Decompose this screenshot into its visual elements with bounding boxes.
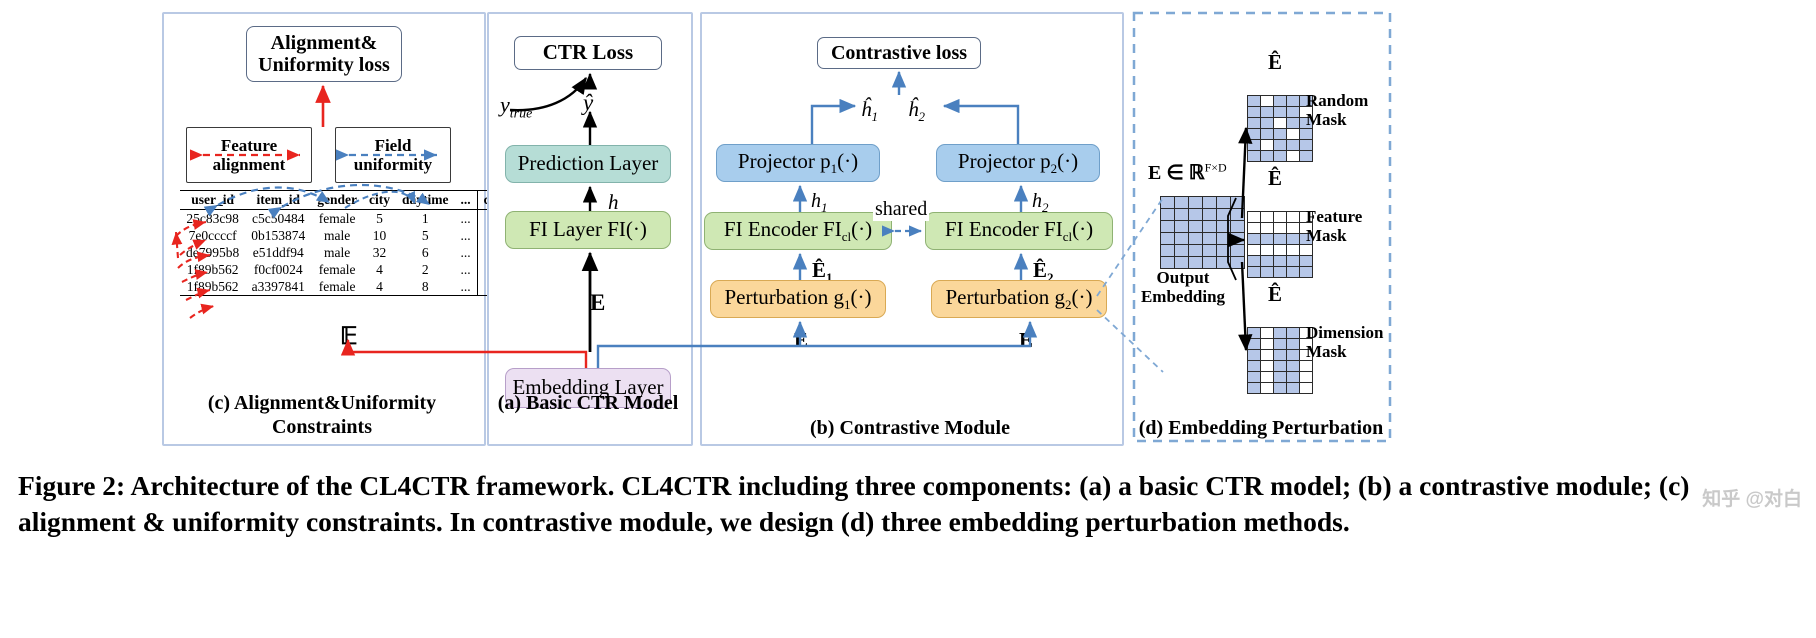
grid-cell xyxy=(1274,339,1286,349)
projector-p2-label: Projector p2(·) xyxy=(958,150,1078,177)
dimension-mask-line2: Mask xyxy=(1306,342,1416,361)
grid-cell xyxy=(1300,245,1312,255)
grid-cell xyxy=(1248,328,1260,338)
th-daytime: daytime xyxy=(396,191,455,210)
grid-cell xyxy=(1203,209,1216,220)
grid-cell xyxy=(1261,383,1273,393)
grid-cell xyxy=(1274,234,1286,244)
feature-alignment-line2: alignment xyxy=(213,155,286,174)
ctr-loss-box: CTR Loss xyxy=(514,36,662,70)
shared-label: shared xyxy=(873,198,929,221)
figure-architecture-diagram: Alignment& Uniformity loss Feature align… xyxy=(0,0,1816,638)
panel-c-caption-line2: Constraints xyxy=(162,416,482,440)
perturbation-g2-label: Perturbation g2(·) xyxy=(945,286,1092,313)
grid-cell xyxy=(1261,234,1273,244)
grid-cell xyxy=(1274,223,1286,233)
h2-symbol: h xyxy=(1032,190,1042,212)
cell-gender: female xyxy=(311,210,363,228)
grid-cell xyxy=(1300,129,1312,139)
grid-cell xyxy=(1217,245,1230,256)
perturbation-g2-text: Perturbation g xyxy=(945,285,1065,309)
cell-gender: female xyxy=(311,261,363,278)
h1-hat-label: ĥ1 xyxy=(861,97,878,125)
cell-user-id: 25c83c98 xyxy=(180,210,245,228)
grid-cell xyxy=(1300,383,1312,393)
grid-cell xyxy=(1287,129,1299,139)
grid-cell xyxy=(1189,245,1202,256)
h2-hat-label: ĥ2 xyxy=(908,97,925,125)
grid-cell xyxy=(1261,267,1273,277)
alignment-uniformity-loss-box: Alignment& Uniformity loss xyxy=(246,26,402,82)
projector-p2-tail: (·) xyxy=(1057,149,1078,173)
th-gender: gender xyxy=(311,191,363,210)
e1-hat-symbol: Ê xyxy=(812,258,826,282)
grid-cell xyxy=(1175,233,1188,244)
cell-city: 10 xyxy=(363,227,396,244)
cell-ellipsis: ... xyxy=(455,210,478,228)
grid-cell xyxy=(1274,361,1286,371)
y-hat-label: ŷ xyxy=(583,90,593,116)
y-true-label: ytrue xyxy=(500,92,532,122)
feature-mask-line2: Mask xyxy=(1306,226,1406,245)
panel-c-embedding-symbol: 𝔼 xyxy=(340,322,358,351)
embedding-space-superscript: F×D xyxy=(1205,160,1227,174)
grid-cell xyxy=(1274,107,1286,117)
e2-hat-symbol: Ê xyxy=(1033,258,1047,282)
feature-mask-grid xyxy=(1247,211,1313,278)
watermark: 知乎 @对白 xyxy=(1702,484,1802,511)
random-mask-label: Random Mask xyxy=(1306,91,1406,129)
embedding-space-label: E ∈ ℝF×D xyxy=(1148,160,1227,185)
grid-cell xyxy=(1217,197,1230,208)
grid-cell xyxy=(1217,233,1230,244)
grid-cell xyxy=(1248,350,1260,360)
y-true-symbol: y xyxy=(500,92,510,117)
field-uniformity-box: Field uniformity xyxy=(335,127,451,183)
grid-cell xyxy=(1300,267,1312,277)
grid-cell xyxy=(1274,212,1286,222)
e-label-right-panel-b: E xyxy=(1019,328,1033,353)
grid-cell xyxy=(1261,339,1273,349)
grid-cell xyxy=(1248,129,1260,139)
grid-cell xyxy=(1261,256,1273,266)
cell-city: 4 xyxy=(363,261,396,278)
grid-cell xyxy=(1287,234,1299,244)
grid-cell xyxy=(1161,209,1174,220)
grid-cell xyxy=(1175,209,1188,220)
grid-cell xyxy=(1261,361,1273,371)
grid-cell xyxy=(1248,267,1260,277)
grid-cell xyxy=(1287,140,1299,150)
grid-cell xyxy=(1261,107,1273,117)
dimension-mask-grid xyxy=(1247,327,1313,394)
output-embedding-grid xyxy=(1160,196,1245,269)
cell-item-id: 0b153874 xyxy=(245,227,311,244)
grid-cell xyxy=(1248,372,1260,382)
cell-ellipsis: ... xyxy=(455,261,478,278)
fi-encoder-2-text: FI Encoder FI xyxy=(945,217,1063,241)
grid-cell xyxy=(1274,256,1286,266)
projector-p1-box: Projector p1(·) xyxy=(716,144,880,182)
cell-user-id: 7e0ccccf xyxy=(180,227,245,244)
grid-cell xyxy=(1248,151,1260,161)
grid-cell xyxy=(1261,372,1273,382)
h2-hat-subscript: 2 xyxy=(919,109,926,124)
grid-cell xyxy=(1189,233,1202,244)
panel-a-caption: (a) Basic CTR Model xyxy=(487,392,689,416)
cell-ellipsis: ... xyxy=(455,278,478,296)
feature-mask-e-hat: Ê xyxy=(1268,166,1282,191)
grid-cell xyxy=(1287,328,1299,338)
grid-cell xyxy=(1287,96,1299,106)
grid-cell xyxy=(1261,223,1273,233)
fi-layer-label: FI Layer FI(·) xyxy=(529,218,647,242)
random-mask-line1: Random xyxy=(1306,91,1406,110)
grid-cell xyxy=(1161,233,1174,244)
fi-encoder-1-tail: (·) xyxy=(851,217,872,241)
th-city: city xyxy=(363,191,396,210)
grid-cell xyxy=(1287,256,1299,266)
feature-alignment-box: Feature alignment xyxy=(186,127,312,183)
field-uniformity-line2: uniformity xyxy=(354,155,432,174)
grid-cell xyxy=(1248,256,1260,266)
prediction-layer-label: Prediction Layer xyxy=(518,152,659,176)
grid-cell xyxy=(1248,140,1260,150)
grid-cell xyxy=(1274,151,1286,161)
grid-cell xyxy=(1217,257,1230,268)
cell-daytime: 8 xyxy=(396,278,455,296)
grid-cell xyxy=(1261,328,1273,338)
fi-encoder-1-text: FI Encoder FI xyxy=(724,217,842,241)
output-embedding-caption: Output Embedding xyxy=(1118,268,1248,306)
e-label-left-panel-b: E xyxy=(794,328,808,353)
grid-cell xyxy=(1300,372,1312,382)
perturbation-g2-tail: (·) xyxy=(1072,285,1093,309)
grid-cell xyxy=(1161,245,1174,256)
panel-c-caption-line1: (c) Alignment&Uniformity xyxy=(162,392,482,416)
grid-cell xyxy=(1161,221,1174,232)
grid-cell xyxy=(1274,350,1286,360)
cell-daytime: 2 xyxy=(396,261,455,278)
figure-caption: Figure 2: Architecture of the CL4CTR fra… xyxy=(18,468,1798,541)
grid-cell xyxy=(1274,129,1286,139)
grid-cell xyxy=(1287,151,1299,161)
grid-cell xyxy=(1261,151,1273,161)
grid-cell xyxy=(1248,339,1260,349)
grid-cell xyxy=(1248,383,1260,393)
grid-cell xyxy=(1261,212,1273,222)
grid-cell xyxy=(1161,197,1174,208)
grid-cell xyxy=(1261,140,1273,150)
cell-daytime: 5 xyxy=(396,227,455,244)
cell-item-id: e51ddf94 xyxy=(245,244,311,261)
grid-cell xyxy=(1287,372,1299,382)
cell-daytime: 6 xyxy=(396,244,455,261)
feature-mask-label: Feature Mask xyxy=(1306,207,1406,245)
dimension-mask-label: Dimension Mask xyxy=(1306,323,1416,361)
field-uniformity-line1: Field xyxy=(375,136,412,155)
grid-cell xyxy=(1175,257,1188,268)
grid-cell xyxy=(1189,257,1202,268)
dimension-mask-e-hat: Ê xyxy=(1268,282,1282,307)
cell-city: 4 xyxy=(363,278,396,296)
grid-cell xyxy=(1248,234,1260,244)
grid-cell xyxy=(1248,361,1260,371)
grid-cell xyxy=(1175,245,1188,256)
grid-cell xyxy=(1189,209,1202,220)
table-row: de7995b8 e51ddf94 male 32 6 ... 1 xyxy=(180,244,517,261)
cell-city: 32 xyxy=(363,244,396,261)
cell-item-id: c5c50484 xyxy=(245,210,311,228)
grid-cell xyxy=(1261,350,1273,360)
perturbation-g1-text: Perturbation g xyxy=(724,285,844,309)
grid-cell xyxy=(1274,383,1286,393)
feature-alignment-line1: Feature xyxy=(221,136,277,155)
grid-cell xyxy=(1231,209,1244,220)
fi-encoder-1-sub: cl xyxy=(842,229,851,244)
th-ellipsis: ... xyxy=(455,191,478,210)
grid-cell xyxy=(1300,256,1312,266)
cell-item-id: f0cf0024 xyxy=(245,261,311,278)
grid-cell xyxy=(1274,96,1286,106)
grid-cell xyxy=(1203,197,1216,208)
grid-cell xyxy=(1287,212,1299,222)
grid-cell xyxy=(1261,129,1273,139)
grid-cell xyxy=(1287,245,1299,255)
th-user-id: user_id xyxy=(180,191,245,210)
fi-encoder-2-tail: (·) xyxy=(1072,217,1093,241)
grid-cell xyxy=(1261,118,1273,128)
grid-cell xyxy=(1203,233,1216,244)
grid-cell xyxy=(1287,118,1299,128)
alignment-loss-line2: Uniformity loss xyxy=(258,54,390,76)
grid-cell xyxy=(1161,257,1174,268)
perturbation-g1-box: Perturbation g1(·) xyxy=(710,280,886,318)
output-embedding-line2: Embedding xyxy=(1118,287,1248,306)
random-mask-line2: Mask xyxy=(1306,110,1406,129)
grid-cell xyxy=(1248,245,1260,255)
grid-cell xyxy=(1300,361,1312,371)
grid-cell xyxy=(1248,107,1260,117)
grid-cell xyxy=(1203,245,1216,256)
grid-cell xyxy=(1287,223,1299,233)
panel-d-caption: (d) Embedding Perturbation xyxy=(1133,417,1389,441)
grid-cell xyxy=(1203,257,1216,268)
grid-cell xyxy=(1231,221,1244,232)
perturbation-g1-label: Perturbation g1(·) xyxy=(724,286,871,313)
cell-city: 5 xyxy=(363,210,396,228)
grid-cell xyxy=(1189,197,1202,208)
grid-cell xyxy=(1231,233,1244,244)
cell-item-id: a3397841 xyxy=(245,278,311,296)
contrastive-loss-box: Contrastive loss xyxy=(817,37,981,69)
perturbation-g1-tail: (·) xyxy=(851,285,872,309)
cell-user-id: 1f89b562 xyxy=(180,278,245,296)
table-row: 1f89b562 a3397841 female 4 8 ... 0 xyxy=(180,278,517,296)
grid-cell xyxy=(1274,245,1286,255)
projector-p1-label: Projector p1(·) xyxy=(738,150,858,177)
feature-mask-line1: Feature xyxy=(1306,207,1406,226)
random-mask-grid xyxy=(1247,95,1313,162)
cell-gender: male xyxy=(311,227,363,244)
contrastive-loss-label: Contrastive loss xyxy=(831,42,967,64)
grid-cell xyxy=(1248,223,1260,233)
grid-cell xyxy=(1231,197,1244,208)
grid-cell xyxy=(1217,209,1230,220)
grid-cell xyxy=(1287,107,1299,117)
grid-cell xyxy=(1231,245,1244,256)
fi-encoder-2-sub: cl xyxy=(1063,229,1072,244)
watermark-text: 知乎 @对白 xyxy=(1702,484,1802,511)
grid-cell xyxy=(1287,361,1299,371)
grid-cell xyxy=(1287,339,1299,349)
grid-cell xyxy=(1274,118,1286,128)
grid-cell xyxy=(1274,267,1286,277)
cell-daytime: 1 xyxy=(396,210,455,228)
h1-hat-symbol: ĥ xyxy=(861,97,872,121)
h1-symbol: h xyxy=(811,190,821,212)
grid-cell xyxy=(1261,245,1273,255)
grid-cell xyxy=(1231,257,1244,268)
grid-cell xyxy=(1189,221,1202,232)
panel-c-caption: (c) Alignment&Uniformity Constraints xyxy=(162,392,482,439)
grid-cell xyxy=(1248,96,1260,106)
fi-encoder-1-label: FI Encoder FIcl(·) xyxy=(724,218,872,245)
perturbation-g2-box: Perturbation g2(·) xyxy=(931,280,1107,318)
cell-gender: female xyxy=(311,278,363,296)
grid-cell xyxy=(1300,151,1312,161)
fi-encoder-2-box: FI Encoder FIcl(·) xyxy=(925,212,1113,250)
grid-cell xyxy=(1274,372,1286,382)
grid-cell xyxy=(1274,328,1286,338)
cell-gender: male xyxy=(311,244,363,261)
h1-hat-subscript: 1 xyxy=(872,109,879,124)
grid-cell xyxy=(1248,118,1260,128)
cell-ellipsis: ... xyxy=(455,227,478,244)
fi-encoder-2-label: FI Encoder FIcl(·) xyxy=(945,218,1093,245)
cell-user-id: de7995b8 xyxy=(180,244,245,261)
cell-user-id: 1f89b562 xyxy=(180,261,245,278)
table-row: 7e0ccccf 0b153874 male 10 5 ... 1 xyxy=(180,227,517,244)
ctr-loss-label: CTR Loss xyxy=(543,41,633,65)
fi-layer-box: FI Layer FI(·) xyxy=(505,211,671,249)
table-header-row: user_id item_id gender city daytime ... … xyxy=(180,191,517,210)
table-row: 1f89b562 f0cf0024 female 4 2 ... 1 xyxy=(180,261,517,278)
grid-cell xyxy=(1287,383,1299,393)
grid-cell xyxy=(1300,140,1312,150)
random-mask-e-hat: Ê xyxy=(1268,50,1282,75)
table-row: 25c83c98 c5c50484 female 5 1 ... 0 xyxy=(180,210,517,228)
alignment-loss-line1: Alignment& xyxy=(271,32,378,54)
prediction-layer-box: Prediction Layer xyxy=(505,145,671,183)
grid-cell xyxy=(1287,267,1299,277)
grid-cell xyxy=(1274,140,1286,150)
y-true-subscript: true xyxy=(510,106,533,121)
h2-hat-symbol: ĥ xyxy=(908,97,919,121)
grid-cell xyxy=(1217,221,1230,232)
grid-cell xyxy=(1175,197,1188,208)
grid-cell xyxy=(1203,221,1216,232)
projector-p2-text: Projector p xyxy=(958,149,1051,173)
embedding-space-text: E ∈ ℝ xyxy=(1148,162,1205,184)
output-embedding-line1: Output xyxy=(1118,268,1248,287)
panel-b-caption: (b) Contrastive Module xyxy=(700,417,1120,441)
grid-cell xyxy=(1287,350,1299,360)
e-label-panel-a: E xyxy=(590,290,605,316)
projector-p1-tail: (·) xyxy=(837,149,858,173)
fi-encoder-1-box: FI Encoder FIcl(·) xyxy=(704,212,892,250)
grid-cell xyxy=(1175,221,1188,232)
dimension-mask-line1: Dimension xyxy=(1306,323,1416,342)
grid-cell xyxy=(1261,96,1273,106)
projector-p2-box: Projector p2(·) xyxy=(936,144,1100,182)
projector-p1-text: Projector p xyxy=(738,149,831,173)
grid-cell xyxy=(1248,212,1260,222)
th-item-id: item_id xyxy=(245,191,311,210)
feature-data-table: user_id item_id gender city daytime ... … xyxy=(180,190,517,296)
cell-ellipsis: ... xyxy=(455,244,478,261)
